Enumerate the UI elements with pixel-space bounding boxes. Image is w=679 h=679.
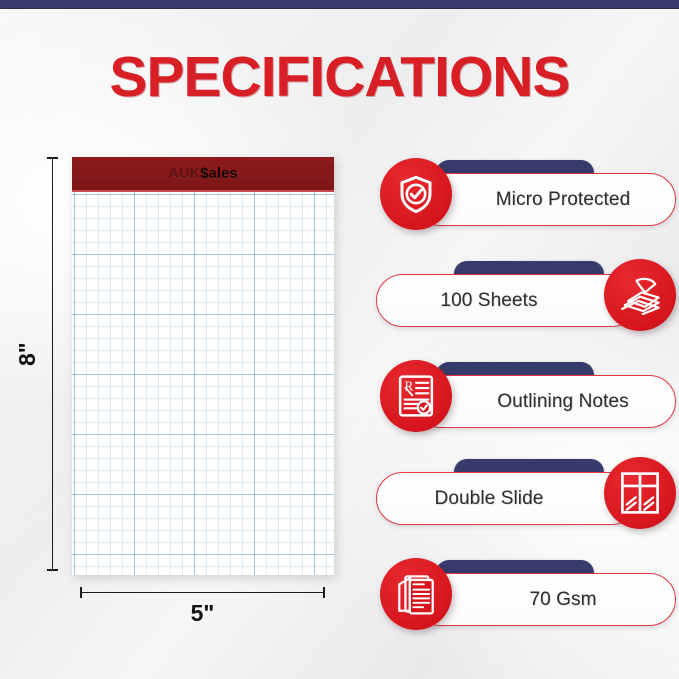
page-title: SPECIFICATIONS <box>0 44 679 110</box>
rx-document-icon: R <box>396 374 436 418</box>
stacked-sheets-icon <box>618 275 662 315</box>
width-dimension-label: 5" <box>80 600 325 627</box>
shield-check-icon <box>395 173 437 215</box>
height-dimension-line <box>52 157 53 571</box>
paper-stack-icon <box>395 572 437 616</box>
height-dimension-label: 8" <box>14 342 41 366</box>
top-accent-bar <box>0 0 679 9</box>
brand-prefix: AUK <box>168 166 200 182</box>
feature-label: Outlining Notes <box>497 391 628 413</box>
feature-badge <box>604 259 676 331</box>
feature-label: Micro Protected <box>496 189 631 211</box>
notepad-header-band: AUK$ales <box>72 157 334 192</box>
feature-label: 100 Sheets <box>440 290 537 312</box>
notepad-product-image: AUK$ales <box>72 157 334 575</box>
feature-pill[interactable]: 100 Sheets <box>376 274 638 327</box>
brand-logo: AUK$ales <box>168 166 237 182</box>
width-dimension-line <box>80 592 325 593</box>
feature-label: Double Slide <box>435 488 544 510</box>
feature-badge <box>604 457 676 529</box>
brand-suffix: $ales <box>200 166 237 182</box>
feature-list: Micro Protected 100 Sheets <box>376 158 676 658</box>
feature-label: 70 Gsm <box>529 589 596 611</box>
feature-pill[interactable]: Micro Protected <box>414 173 676 226</box>
graph-paper-grid <box>72 192 334 575</box>
feature-pill[interactable]: Outlining Notes <box>414 375 676 428</box>
feature-badge <box>380 558 452 630</box>
window-grid-icon <box>619 471 661 515</box>
feature-pill[interactable]: 70 Gsm <box>414 573 676 626</box>
feature-item-double-slide[interactable]: Double Slide <box>376 457 676 543</box>
feature-item-70-gsm[interactable]: 70 Gsm <box>376 558 676 644</box>
feature-item-micro-protected[interactable]: Micro Protected <box>376 158 676 244</box>
feature-item-outlining-notes[interactable]: Outlining Notes R <box>376 360 676 446</box>
feature-pill[interactable]: Double Slide <box>376 472 638 525</box>
feature-badge <box>380 158 452 230</box>
feature-badge: R <box>380 360 452 432</box>
feature-item-100-sheets[interactable]: 100 Sheets <box>376 259 676 345</box>
